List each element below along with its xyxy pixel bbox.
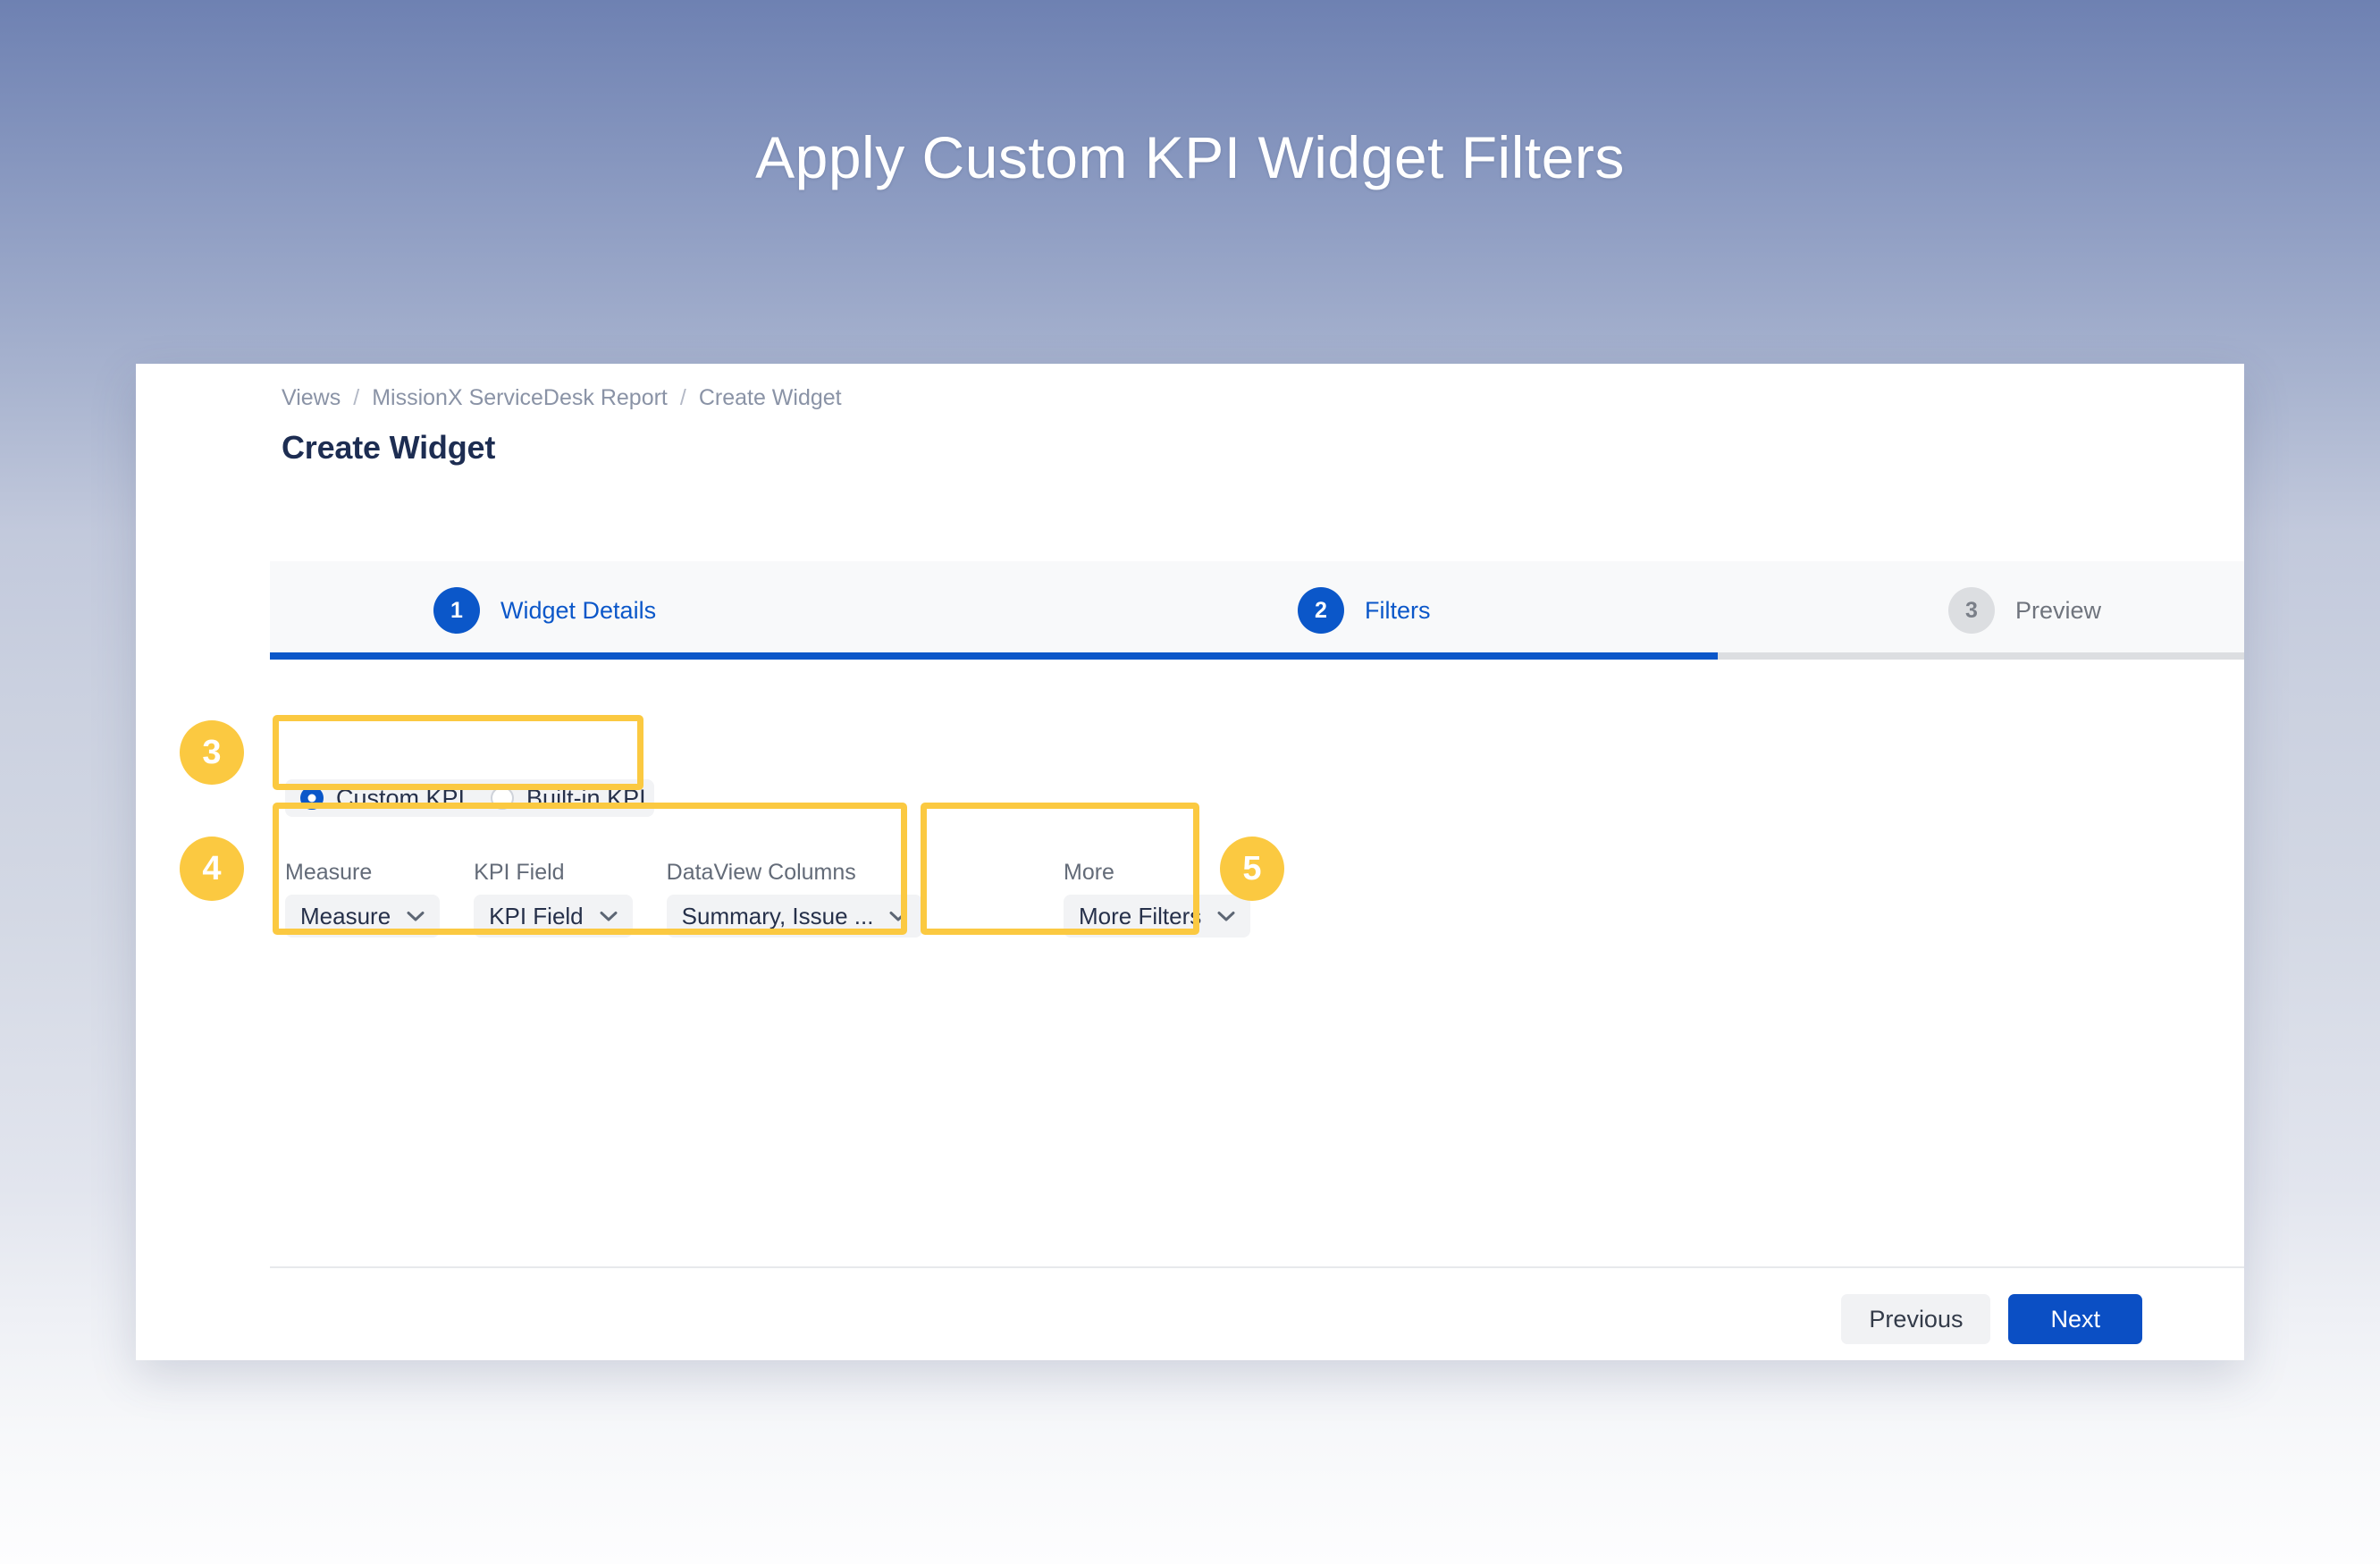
- filter-fields-row: Measure Measure KPI Field KPI Field Data…: [285, 860, 956, 938]
- annotation-badge-3: 3: [180, 720, 244, 785]
- field-group-measure: Measure Measure: [285, 860, 440, 938]
- dataview-columns-dropdown[interactable]: Summary, Issue ...: [667, 895, 923, 938]
- kpi-type-radio-group[interactable]: Custom KPI Built-in KPI: [285, 779, 654, 817]
- measure-dropdown[interactable]: Measure: [285, 895, 440, 938]
- breadcrumb-item-views[interactable]: Views: [282, 385, 341, 411]
- step-label-widget-details: Widget Details: [500, 597, 656, 625]
- field-label-measure: Measure: [285, 860, 440, 886]
- radio-option-built-in-kpi[interactable]: Built-in KPI: [491, 785, 646, 812]
- dataview-columns-dropdown-value: Summary, Issue ...: [682, 903, 874, 930]
- footer-divider: [270, 1266, 2244, 1268]
- radio-label-custom-kpi: Custom KPI: [336, 785, 465, 812]
- kpi-field-dropdown[interactable]: KPI Field: [474, 895, 633, 938]
- step-label-filters: Filters: [1365, 597, 1431, 625]
- create-widget-card: Views / MissionX ServiceDesk Report / Cr…: [136, 364, 2244, 1360]
- footer-actions: Previous Next: [1841, 1294, 2142, 1344]
- step-number-badge: 1: [433, 587, 480, 634]
- step-preview[interactable]: 3 Preview: [1948, 561, 2101, 660]
- breadcrumb-item-create-widget[interactable]: Create Widget: [699, 385, 842, 411]
- measure-dropdown-value: Measure: [300, 903, 391, 930]
- chevron-down-icon: [889, 911, 907, 922]
- stepper-progress-fill: [270, 652, 1718, 660]
- next-button[interactable]: Next: [2008, 1294, 2142, 1344]
- more-filters-dropdown-value: More Filters: [1079, 903, 1201, 930]
- radio-label-built-in-kpi: Built-in KPI: [526, 785, 646, 812]
- breadcrumb-item-report[interactable]: MissionX ServiceDesk Report: [372, 385, 668, 411]
- card-heading: Create Widget: [282, 429, 495, 467]
- step-label-preview: Preview: [2015, 597, 2101, 625]
- field-group-kpi-field: KPI Field KPI Field: [474, 860, 633, 938]
- chevron-down-icon: [407, 911, 425, 922]
- chevron-down-icon: [1217, 911, 1235, 922]
- annotation-badge-5: 5: [1220, 837, 1284, 901]
- step-filters[interactable]: 2 Filters: [1298, 561, 1431, 660]
- chevron-down-icon: [600, 911, 618, 922]
- annotation-badge-4: 4: [180, 837, 244, 901]
- breadcrumb-separator: /: [353, 385, 359, 411]
- wizard-stepper: 1 Widget Details 2 Filters 3 Preview: [270, 561, 2244, 660]
- breadcrumb: Views / MissionX ServiceDesk Report / Cr…: [282, 385, 842, 411]
- field-label-kpi-field: KPI Field: [474, 860, 633, 886]
- step-widget-details[interactable]: 1 Widget Details: [433, 561, 656, 660]
- more-filters-dropdown[interactable]: More Filters: [1064, 895, 1250, 938]
- step-number-badge: 3: [1948, 587, 1995, 634]
- step-number-badge: 2: [1298, 587, 1344, 634]
- kpi-field-dropdown-value: KPI Field: [489, 903, 584, 930]
- breadcrumb-separator: /: [680, 385, 686, 411]
- page-title: Apply Custom KPI Widget Filters: [0, 125, 2380, 190]
- radio-unselected-icon[interactable]: [491, 786, 514, 810]
- radio-option-custom-kpi[interactable]: Custom KPI: [300, 785, 465, 812]
- field-group-dataview-columns: DataView Columns Summary, Issue ...: [667, 860, 923, 938]
- previous-button[interactable]: Previous: [1841, 1294, 1990, 1344]
- field-label-dataview-columns: DataView Columns: [667, 860, 923, 886]
- radio-selected-icon[interactable]: [300, 786, 324, 810]
